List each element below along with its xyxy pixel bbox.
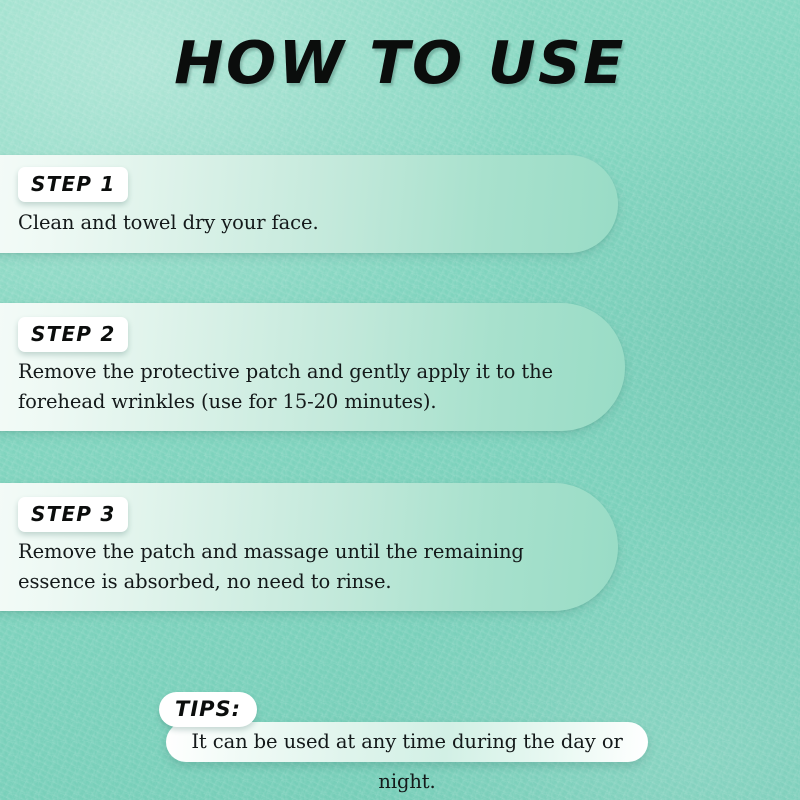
- tips-text: It can be used at any time during the da…: [166, 722, 648, 762]
- step-panel-1-content: STEP 1 Clean and towel dry your face.: [0, 155, 618, 253]
- how-to-use-poster: HOW TO USE STEP 1 Clean and towel dry yo…: [0, 0, 800, 800]
- step-text-2: Remove the protective patch and gently a…: [18, 357, 608, 417]
- step-panel-1: STEP 1 Clean and towel dry your face.: [0, 155, 618, 253]
- step-text-1: Clean and towel dry your face.: [18, 208, 588, 238]
- tips-badge: TIPS:: [159, 692, 257, 727]
- step-panel-2: STEP 2 Remove the protective patch and g…: [0, 303, 625, 431]
- page-title: HOW TO USE: [0, 28, 800, 97]
- step-panel-2-content: STEP 2 Remove the protective patch and g…: [0, 303, 625, 431]
- step-text-3: Remove the patch and massage until the r…: [18, 537, 598, 597]
- step-badge-3: STEP 3: [18, 497, 128, 532]
- step-badge-2: STEP 2: [18, 317, 128, 352]
- tips-pill: It can be used at any time during the da…: [166, 722, 648, 762]
- step-panel-3-content: STEP 3 Remove the patch and massage unti…: [0, 483, 618, 611]
- step-panel-3: STEP 3 Remove the patch and massage unti…: [0, 483, 618, 611]
- step-badge-1: STEP 1: [18, 167, 128, 202]
